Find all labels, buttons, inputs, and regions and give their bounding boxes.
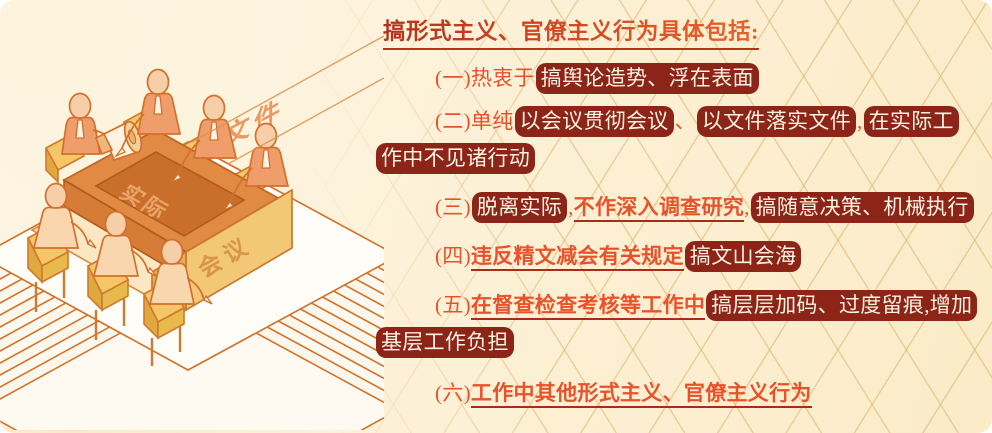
item-6-seg-1: 工作中其他形式主义、官僚主义行为: [471, 381, 812, 408]
list-item-6: (六)工作中其他形式主义、官僚主义行为: [375, 375, 975, 412]
item-3-seg-5: 搞随意决策、机械执行: [751, 192, 974, 223]
item-4-seg-1: 违反精文减会有关规定: [471, 244, 684, 271]
list-item-1: (一)热衷于搞舆论造势、浮在表面: [375, 60, 975, 97]
item-2-seg-4: 以文件落实文件: [697, 106, 856, 137]
item-3-seg-1: 脱离实际: [472, 192, 567, 223]
item-number-2: (二): [435, 109, 471, 133]
item-1-seg-1: 热衷于: [471, 66, 535, 90]
item-3-seg-2: ,: [568, 195, 574, 219]
content-column: 搞形式主义、官僚主义行为具体包括: (一)热衷于搞舆论造势、浮在表面 (二)单纯…: [375, 14, 975, 412]
list-item-2: (二)单纯以会议贯彻会议、以文件落实文件,在实际工作中不见诸行动: [375, 103, 975, 177]
item-number-5: (五): [435, 293, 471, 317]
item-5-seg-1: 在督查检查考核等工作中: [471, 293, 705, 320]
item-2-seg-3: 、: [675, 109, 696, 133]
item-number-4: (四): [435, 244, 471, 268]
item-2-seg-1: 单纯: [471, 109, 514, 133]
item-2-seg-2: 以会议贯彻会议: [515, 106, 674, 137]
item-2-seg-5: ,: [857, 109, 863, 133]
item-number-1: (一): [435, 66, 471, 90]
official-with-megaphone: [62, 94, 145, 161]
item-4-seg-2: 搞文山会海: [685, 241, 802, 272]
item-number-6: (六): [435, 381, 471, 405]
list-item-3: (三)脱离实际,不作深入调查研究,搞随意决策、机械执行: [375, 189, 975, 226]
page-title: 搞形式主义、官僚主义行为具体包括:: [383, 14, 759, 50]
item-3-seg-4: ,: [744, 195, 750, 219]
list-item-4: (四)违反精文减会有关规定搞文山会海: [375, 238, 975, 275]
list-item-5: (五)在督查检查考核等工作中搞层层加码、过度留痕,增加基层工作负担: [375, 287, 975, 361]
meeting-illustration: 文件: [0, 30, 384, 430]
item-1-seg-2: 搞舆论造势、浮在表面: [536, 63, 759, 94]
item-number-3: (三): [435, 195, 471, 219]
poster-canvas: 文件: [0, 0, 992, 433]
item-3-seg-3: 不作深入调查研究: [574, 195, 744, 222]
